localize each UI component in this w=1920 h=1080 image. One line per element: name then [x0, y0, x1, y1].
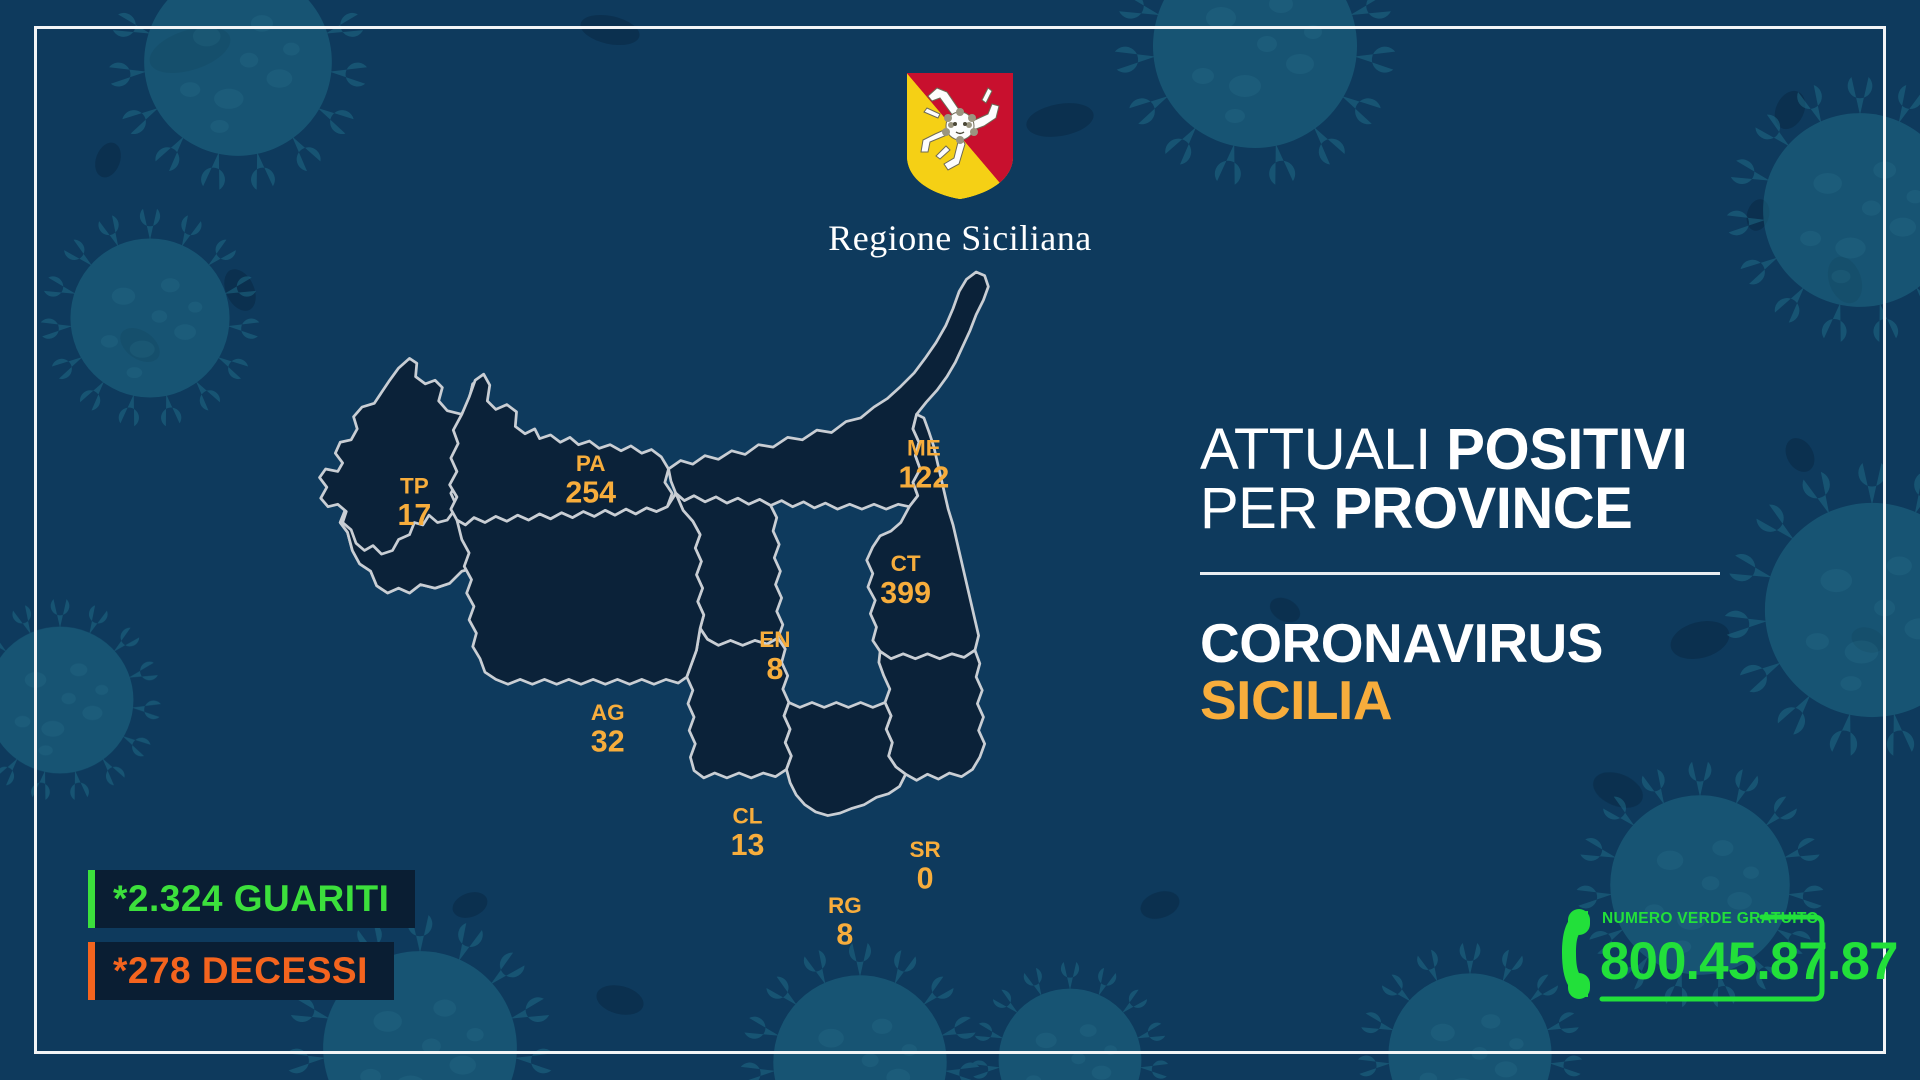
sicilian-region-coat-of-arms-icon — [904, 70, 1016, 202]
province-code-cl: CL — [733, 803, 763, 828]
headline-province: PROVINCE — [1333, 476, 1632, 541]
accent-bar-recovered — [88, 870, 95, 928]
header-crest-block: Regione Siciliana — [0, 70, 1920, 259]
province-value-tp: 17 — [397, 498, 431, 532]
summary-stats: *2.324 GUARITI *278 DECESSI — [88, 870, 415, 1014]
province-code-ag: AG — [591, 700, 625, 725]
stat-text-deaths: *278 DECESSI — [113, 950, 368, 992]
province-shape-ag — [457, 493, 704, 684]
province-value-ag: 32 — [591, 725, 625, 759]
stat-row-deaths: *278 DECESSI — [88, 942, 394, 1000]
headline-divider — [1200, 572, 1720, 575]
headline-line-2: PER PROVINCE — [1200, 479, 1740, 538]
headline-line-1: ATTUALI POSITIVI — [1200, 420, 1740, 479]
stat-row-recovered: *2.324 GUARITI — [88, 870, 415, 928]
province-code-me: ME — [907, 436, 941, 461]
toll-free-number-badge[interactable]: NUMERO VERDE GRATUITO 800.45.87.87 — [1556, 895, 1856, 1015]
phone-handset-icon — [1562, 909, 1590, 999]
province-value-ct: 399 — [880, 576, 931, 610]
province-shape-rg — [784, 702, 906, 815]
toll-free-number: 800.45.87.87 — [1600, 932, 1897, 991]
toll-free-label: NUMERO VERDE GRATUITO — [1602, 910, 1819, 927]
province-value-cl: 13 — [731, 828, 765, 862]
province-shape-palermo — [450, 374, 673, 525]
province-value-rg: 8 — [836, 917, 853, 951]
province-value-pa: 254 — [565, 475, 616, 509]
province-value-sr: 0 — [917, 862, 934, 896]
province-code-sr: SR — [909, 837, 940, 862]
headline-positivi: POSITIVI — [1446, 417, 1687, 482]
subtitle-coronavirus: CORONAVIRUS — [1200, 615, 1740, 672]
province-value-en: 8 — [766, 652, 783, 686]
headline-attuali: ATTUALI — [1200, 417, 1446, 482]
subtitle-sicilia: SICILIA — [1200, 672, 1740, 729]
province-code-en: EN — [759, 627, 790, 652]
accent-bar-deaths — [88, 942, 95, 1000]
headline-panel: ATTUALI POSITIVI PER PROVINCE CORONAVIRU… — [1200, 420, 1740, 729]
province-code-pa: PA — [576, 451, 606, 476]
province-value-me: 122 — [899, 460, 950, 494]
province-code-rg: RG — [828, 893, 862, 918]
province-shape-sr — [879, 650, 985, 780]
province-code-tp: TP — [400, 473, 429, 498]
headline-per: PER — [1200, 476, 1333, 541]
province-code-ct: CT — [891, 551, 921, 576]
region-name: Regione Siciliana — [0, 217, 1920, 259]
stat-text-recovered: *2.324 GUARITI — [113, 878, 389, 920]
